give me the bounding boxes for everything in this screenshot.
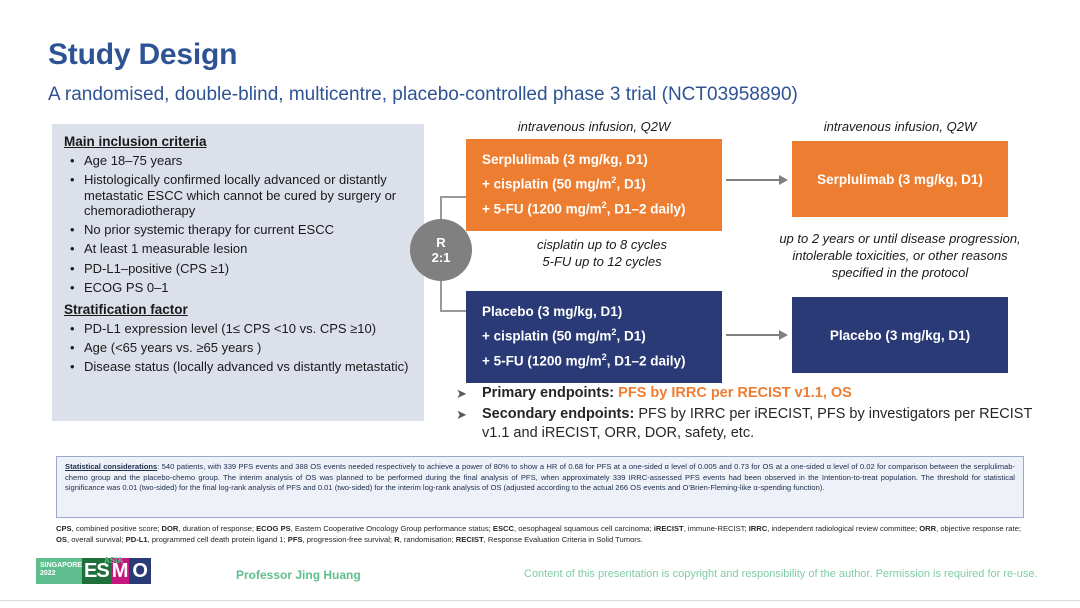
abbreviation-definition: , duration of response; — [178, 524, 256, 533]
inclusion-criteria-panel: Main inclusion criteria •Age 18–75 years… — [52, 124, 424, 421]
randomisation-stem-lower — [440, 278, 442, 312]
esmo-asia-logo: SINGAPORE 2022 ES M O — [36, 558, 151, 584]
abbreviation-definition: , combined positive score; — [72, 524, 162, 533]
treatment-duration-caption: up to 2 years or until disease progressi… — [768, 230, 1032, 281]
randomisation-ratio: 2:1 — [432, 250, 451, 265]
statistical-considerations-heading: Statistical considerations — [65, 462, 157, 471]
list-item: •PD-L1–positive (CPS ≥1) — [64, 261, 414, 277]
list-item: •No prior systemic therapy for current E… — [64, 222, 414, 238]
placebo-arm-line-3: + 5-FU (1200 mg/m2, D1–2 daily) — [482, 347, 722, 372]
logo-o-block: O — [129, 558, 151, 584]
experimental-arm-line-3: + 5-FU (1200 mg/m2, D1–2 daily) — [482, 195, 722, 220]
list-item-label: Age 18–75 years — [84, 153, 182, 168]
treatment-duration-line-1: up to 2 years or until disease progressi… — [768, 230, 1032, 247]
randomisation-label: R — [436, 235, 445, 250]
abbreviation-term: ESCC — [493, 524, 514, 533]
placebo-arm-line-1: Placebo (3 mg/kg, D1) — [482, 301, 722, 322]
stratification-heading: Stratification factor — [64, 302, 414, 317]
placebo-maintenance-box: Placebo (3 mg/kg, D1) — [792, 297, 1008, 373]
list-item-label: PD-L1 expression level (1≤ CPS <10 vs. C… — [84, 321, 376, 336]
abbreviation-term: ORR — [919, 524, 936, 533]
secondary-endpoints-label: Secondary endpoints: — [482, 406, 634, 422]
list-item: •PD-L1 expression level (1≤ CPS <10 vs. … — [64, 321, 414, 337]
placebo-arm-line-2: + cisplatin (50 mg/m2, D1) — [482, 322, 722, 347]
list-item-label: Disease status (locally advanced vs dist… — [84, 359, 408, 374]
primary-endpoints-value: PFS by IRRC per RECIST v1.1, OS — [618, 385, 852, 401]
bullet-icon: • — [70, 222, 75, 238]
stratification-factor-list: •PD-L1 expression level (1≤ CPS <10 vs. … — [64, 321, 414, 375]
chemo-cycles-line-1: cisplatin up to 8 cycles — [482, 236, 722, 253]
endpoints-section: ➤ Primary endpoints: PFS by IRRC per REC… — [452, 384, 1042, 445]
abbreviation-definition: , randomisation; — [400, 535, 456, 544]
abbreviation-definition: , programmed cell death protein ligand 1… — [148, 535, 288, 544]
logo-asia-text: ASIA — [104, 556, 123, 565]
list-item-label: Histologically confirmed locally advance… — [84, 172, 396, 218]
bullet-icon: • — [70, 321, 75, 337]
chevron-right-icon: ➤ — [456, 405, 467, 424]
list-item: •At least 1 measurable lesion — [64, 241, 414, 257]
abbreviation-definition: , Response Evaluation Criteria in Solid … — [484, 535, 643, 544]
footer-divider — [0, 600, 1080, 601]
abbreviation-term: ECOG PS — [256, 524, 291, 533]
experimental-arm-line-2: + cisplatin (50 mg/m2, D1) — [482, 170, 722, 195]
abbreviation-term: IRRC — [749, 524, 768, 533]
logo-location-text: SINGAPORE — [40, 562, 78, 570]
bullet-icon: • — [70, 280, 75, 296]
bullet-icon: • — [70, 340, 75, 356]
statistical-considerations-box: Statistical considerations: 540 patients… — [56, 456, 1024, 518]
bullet-icon: • — [70, 241, 75, 257]
abbreviation-definition: , progression-free survival; — [303, 535, 395, 544]
abbreviation-term: PD-L1 — [126, 535, 148, 544]
abbreviation-definition: , immune-RECIST; — [684, 524, 749, 533]
list-item: •Histologically confirmed locally advanc… — [64, 172, 414, 219]
experimental-maintenance-box: Serplulimab (3 mg/kg, D1) — [792, 141, 1008, 217]
statistical-considerations-body: : 540 patients, with 339 PFS events and … — [65, 462, 1015, 492]
logo-location-block: SINGAPORE 2022 — [36, 558, 82, 584]
abbreviation-term: RECIST — [456, 535, 484, 544]
treatment-duration-line-2: intolerable toxicities, or other reasons — [768, 247, 1032, 264]
abbreviation-term: OS — [56, 535, 67, 544]
primary-endpoints-label: Primary endpoints: — [482, 385, 614, 401]
list-item-label: At least 1 measurable lesion — [84, 241, 247, 256]
page-subtitle: A randomised, double-blind, multicentre,… — [48, 84, 798, 106]
experimental-arm-box: Serplulimab (3 mg/kg, D1) + cisplatin (5… — [466, 139, 722, 231]
abbreviation-definition: , oesophageal squamous cell carcinoma; — [514, 524, 654, 533]
randomisation-connector-upper — [440, 196, 468, 198]
secondary-endpoints-row: ➤ Secondary endpoints: PFS by IRRC per i… — [452, 405, 1042, 443]
placebo-arm-box: Placebo (3 mg/kg, D1) + cisplatin (50 mg… — [466, 291, 722, 383]
list-item: •Disease status (locally advanced vs dis… — [64, 359, 414, 375]
bullet-icon: • — [70, 153, 75, 169]
treatment-duration-line-3: specified in the protocol — [768, 264, 1032, 281]
list-item-label: Age (<65 years vs. ≥65 years ) — [84, 340, 261, 355]
list-item: •Age (<65 years vs. ≥65 years ) — [64, 340, 414, 356]
page-title: Study Design — [48, 38, 237, 72]
abbreviation-term: DOR — [162, 524, 179, 533]
logo-year-text: 2022 — [40, 570, 78, 578]
inclusion-criteria-list: •Age 18–75 years •Histologically confirm… — [64, 153, 414, 295]
list-item-label: ECOG PS 0–1 — [84, 280, 169, 295]
arrow-right-icon — [726, 175, 788, 185]
bullet-icon: • — [70, 261, 75, 277]
presenter-name: Professor Jing Huang — [236, 568, 361, 582]
abbreviation-definition: , objective response rate; — [936, 524, 1021, 533]
abbreviation-definition: , independent radiological review commit… — [767, 524, 919, 533]
abbreviation-term: PFS — [288, 535, 303, 544]
chemo-cycles-caption: cisplatin up to 8 cycles 5-FU up to 12 c… — [482, 236, 722, 270]
abbreviation-term: iRECIST — [654, 524, 684, 533]
chevron-right-icon: ➤ — [456, 384, 467, 403]
infusion-caption-right: intravenous infusion, Q2W — [786, 119, 1014, 134]
copyright-notice: Content of this presentation is copyrigh… — [524, 568, 1038, 580]
bullet-icon: • — [70, 359, 75, 375]
list-item-label: No prior systemic therapy for current ES… — [84, 222, 334, 237]
infusion-caption-left: intravenous infusion, Q2W — [466, 119, 722, 134]
abbreviations-footnote: CPS, combined positive score; DOR, durat… — [56, 524, 1024, 546]
abbreviation-definition: , overall survival; — [67, 535, 126, 544]
primary-endpoints-row: ➤ Primary endpoints: PFS by IRRC per REC… — [452, 384, 1042, 403]
list-item: •Age 18–75 years — [64, 153, 414, 169]
inclusion-criteria-heading: Main inclusion criteria — [64, 134, 414, 149]
experimental-arm-line-1: Serplulimab (3 mg/kg, D1) — [482, 149, 722, 170]
bullet-icon: • — [70, 172, 75, 188]
arrow-right-icon — [726, 330, 788, 340]
slide-canvas: Study Design A randomised, double-blind,… — [0, 0, 1080, 608]
randomisation-node: R 2:1 — [410, 219, 472, 281]
chemo-cycles-line-2: 5-FU up to 12 cycles — [482, 253, 722, 270]
abbreviation-definition: , Eastern Cooperative Oncology Group per… — [291, 524, 493, 533]
randomisation-connector-lower — [440, 310, 468, 312]
list-item: •ECOG PS 0–1 — [64, 280, 414, 296]
abbreviation-term: CPS — [56, 524, 72, 533]
list-item-label: PD-L1–positive (CPS ≥1) — [84, 261, 229, 276]
